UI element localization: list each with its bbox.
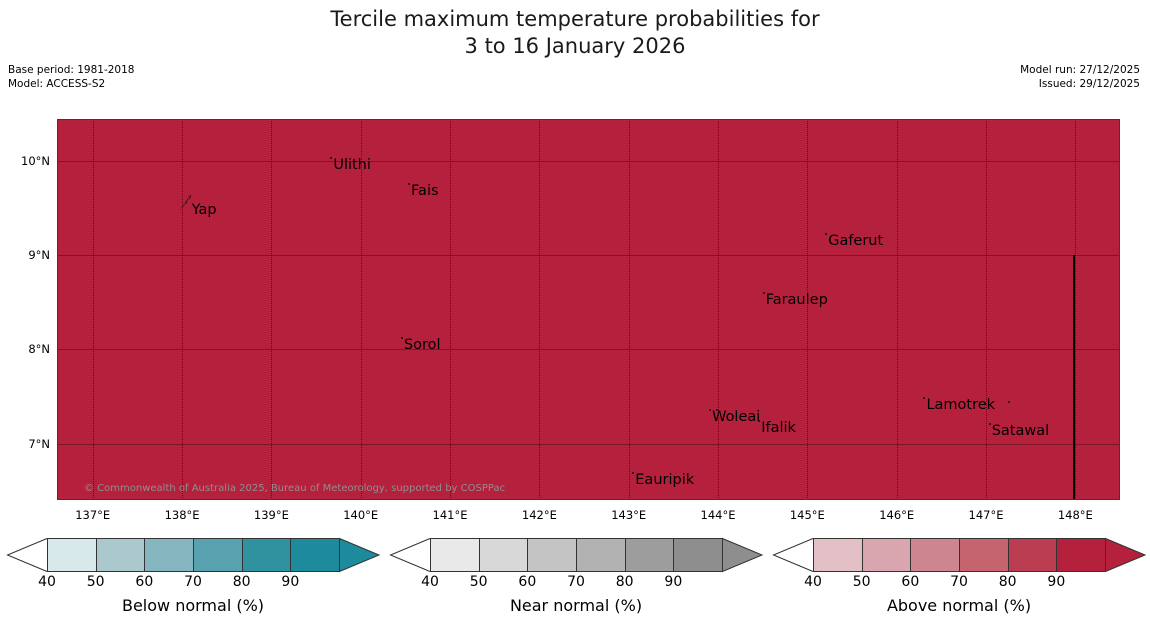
colorbar-bin-70-80 [194,538,243,572]
page-title: Tercile maximum temperature probabilitie… [0,6,1150,60]
colorbar-title: Above normal (%) [773,596,1145,615]
place-label-ifalik: Ifalik [761,420,796,436]
colorbar-cap-right-outline [722,538,763,573]
forecast-map-page: Tercile maximum temperature probabilitie… [0,0,1150,644]
place-marker-dot [989,423,991,425]
colorbar-tick-50: 50 [87,574,105,590]
gridline-lat-10 [57,161,1120,162]
metadata-left: Base period: 1981-2018 Model: ACCESS-S2 [8,63,134,91]
colorbar-cap-right-outline [339,538,380,573]
colorbar-tick-70: 70 [184,574,202,590]
issued-text: Issued: 29/12/2025 [1020,77,1140,91]
place-label-yap: Yap [192,202,217,218]
colorbar-tick-90: 90 [281,574,299,590]
lat-tick-label-9: 9°N [8,248,50,262]
colorbar-tick-60: 60 [518,574,536,590]
lon-tick-label-143: 143°E [611,508,646,522]
gridline-lat-7 [57,444,1120,445]
colorbar-tick-40: 40 [421,574,439,590]
colorbar-bin-50-60 [97,538,146,572]
gridline-lat-8 [57,349,1120,350]
lat-tick-label-10: 10°N [8,154,50,168]
colorbar-body [430,538,722,572]
colorbar-cap-left-outline [7,538,48,573]
colorbar-tick-90: 90 [664,574,682,590]
place-label-faraulep: Faraulep [766,292,828,308]
colorbar-title: Near normal (%) [390,596,762,615]
place-label-eauripik: Eauripik [635,472,694,488]
colorbar-bin-70-80 [577,538,626,572]
colorbar-tick-80: 80 [233,574,251,590]
colorbar-cap-left-outline [773,538,814,573]
map-panel[interactable]: YapUlithiFaisSorolGaferutFaraulepWoleaiI… [57,119,1120,500]
lon-tick-label-141: 141°E [433,508,468,522]
lon-tick-label-145: 145°E [790,508,825,522]
lon-tick-label-138: 138°E [165,508,200,522]
colorbar-tick-40: 40 [804,574,822,590]
base-period-text: Base period: 1981-2018 [8,63,134,77]
colorbar-bin-40-50 [47,538,97,572]
lon-tick-label-142: 142°E [522,508,557,522]
lon-tick-label-139: 139°E [254,508,289,522]
colorbar-cap-left-outline [390,538,431,573]
place-label-woleai: Woleai [712,409,760,425]
colorbar-tick-40: 40 [38,574,56,590]
colorbar-bin-70-80 [960,538,1009,572]
colorbar-bin-80-90 [626,538,675,572]
place-label-sorol: Sorol [404,337,441,353]
colorbar-bin-50-60 [480,538,529,572]
place-label-gaferut: Gaferut [828,233,883,249]
colorbar-tick-80: 80 [999,574,1017,590]
colorbar-bin-60-70 [911,538,960,572]
colorbar-bin-90-100 [1057,538,1105,572]
copyright-text: © Commonwealth of Australia 2025, Bureau… [84,483,505,494]
colorbar-bin-60-70 [145,538,194,572]
lon-tick-label-148: 148°E [1058,508,1093,522]
lon-tick-label-144: 144°E [701,508,736,522]
colorbar-tick-60: 60 [135,574,153,590]
place-marker-dot [408,183,410,185]
colorbar-tick-70: 70 [950,574,968,590]
lon-tick-label-137: 137°E [75,508,110,522]
colorbar-tick-60: 60 [901,574,919,590]
coastline-line [1073,255,1075,500]
colorbar-above: 405060708090Above normal (%) [773,538,1145,638]
colorbar-tick-90: 90 [1047,574,1065,590]
colorbar-cap-right-outline [1105,538,1146,573]
colorbar-bin-40-50 [430,538,480,572]
place-marker-dot [763,292,765,294]
colorbar-bin-80-90 [243,538,292,572]
place-label-satawal: Satawal [992,423,1049,439]
title-line-1: Tercile maximum temperature probabilitie… [330,7,819,31]
colorbar-body [813,538,1105,572]
model-run-text: Model run: 27/12/2025 [1020,63,1140,77]
place-marker-dot [709,409,711,411]
lat-tick-label-7: 7°N [8,437,50,451]
lon-tick-label-147: 147°E [969,508,1004,522]
colorbar-near: 405060708090Near normal (%) [390,538,762,638]
colorbar-tick-70: 70 [567,574,585,590]
colorbar-tick-50: 50 [853,574,871,590]
colorbar-bin-90-100 [291,538,339,572]
model-text: Model: ACCESS-S2 [8,77,134,91]
place-label-lamotrek: Lamotrek [926,397,995,413]
metadata-right: Model run: 27/12/2025 Issued: 29/12/2025 [1020,63,1140,91]
colorbar-tick-50: 50 [470,574,488,590]
lon-tick-label-146: 146°E [879,508,914,522]
colorbar-tick-80: 80 [616,574,634,590]
lon-tick-label-140: 140°E [343,508,378,522]
colorbar-title: Below normal (%) [7,596,379,615]
colorbar-bin-80-90 [1009,538,1058,572]
colorbar-bin-50-60 [863,538,912,572]
gridline-lat-9 [57,255,1120,256]
place-label-fais: Fais [411,183,438,199]
lat-tick-label-8: 8°N [8,342,50,356]
colorbar-bin-40-50 [813,538,863,572]
colorbar-body [47,538,339,572]
colorbar-bin-60-70 [528,538,577,572]
colorbar-bin-90-100 [674,538,722,572]
place-label-ulithi: Ulithi [333,157,371,173]
colorbar-below: 405060708090Below normal (%) [7,538,379,638]
title-line-2: 3 to 16 January 2026 [0,33,1150,60]
